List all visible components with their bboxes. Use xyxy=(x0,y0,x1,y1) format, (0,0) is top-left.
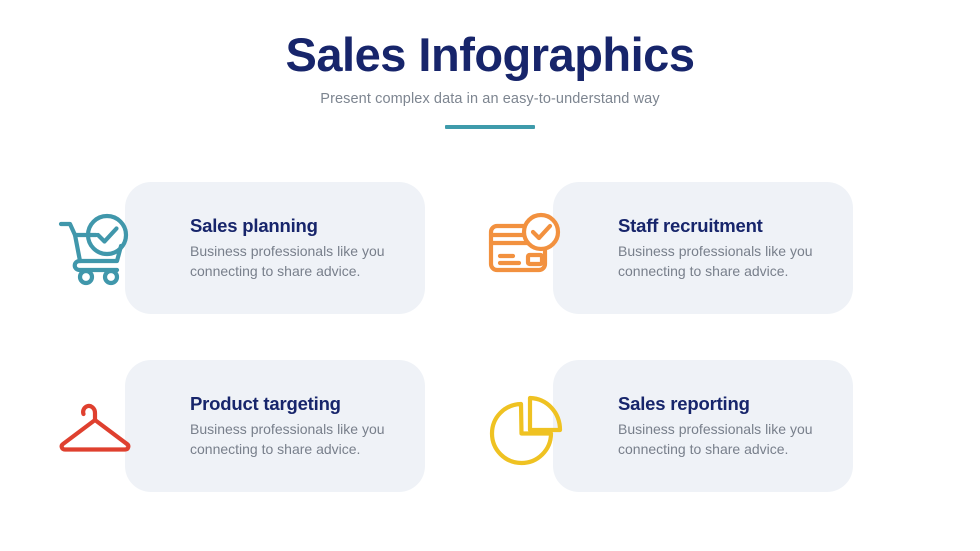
infographic-item-product-targeting[interactable]: Product targeting Business professionals… xyxy=(40,360,425,492)
infographic-item-staff-recruitment[interactable]: Staff recruitment Business professionals… xyxy=(468,182,853,314)
card-description: Business professionals like you connecti… xyxy=(190,420,405,459)
infographic-row-2: Product targeting Business professionals… xyxy=(0,360,980,538)
card-title: Sales planning xyxy=(190,215,425,237)
pie-chart-icon xyxy=(468,371,578,481)
card-description: Business professionals like you connecti… xyxy=(618,420,833,459)
card-description: Business professionals like you connecti… xyxy=(190,242,405,281)
card-title: Sales reporting xyxy=(618,393,853,415)
header-divider xyxy=(445,125,535,129)
card-sales-planning: Sales planning Business professionals li… xyxy=(125,182,425,314)
clothes-hanger-icon xyxy=(40,371,150,481)
card-product-targeting: Product targeting Business professionals… xyxy=(125,360,425,492)
card-description: Business professionals like you connecti… xyxy=(618,242,833,281)
page-title: Sales Infographics xyxy=(0,30,980,79)
card-title: Product targeting xyxy=(190,393,425,415)
infographic-row-1: Sales planning Business professionals li… xyxy=(0,182,980,360)
infographic-item-sales-planning[interactable]: Sales planning Business professionals li… xyxy=(40,182,425,314)
page-subtitle: Present complex data in an easy-to-under… xyxy=(0,91,980,107)
card-sales-reporting: Sales reporting Business professionals l… xyxy=(553,360,853,492)
infographic-item-sales-reporting[interactable]: Sales reporting Business professionals l… xyxy=(468,360,853,492)
infographic-grid: Sales planning Business professionals li… xyxy=(0,182,980,538)
card-staff-recruitment: Staff recruitment Business professionals… xyxy=(553,182,853,314)
shopping-cart-check-icon xyxy=(40,193,150,303)
card-title: Staff recruitment xyxy=(618,215,853,237)
slide-header: Sales Infographics Present complex data … xyxy=(0,30,980,129)
credit-card-check-icon xyxy=(468,193,578,303)
infographic-slide: Sales Infographics Present complex data … xyxy=(0,0,980,551)
